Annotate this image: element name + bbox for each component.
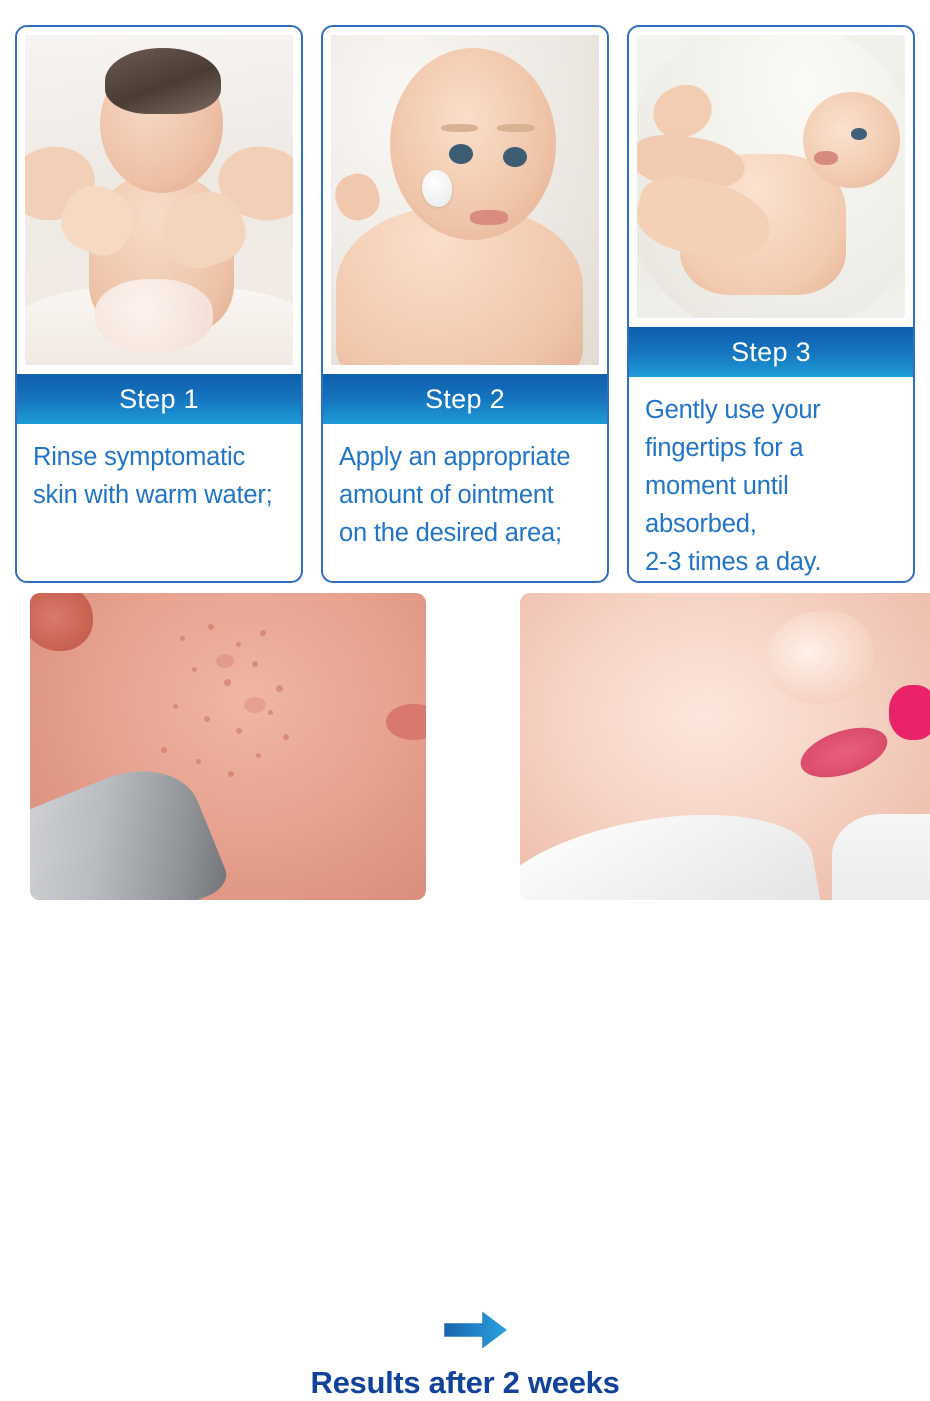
step-2-photo [331, 35, 599, 365]
before-photo [30, 593, 426, 900]
step-1-header: Step 1 [17, 374, 301, 424]
arrow-right-icon [441, 1306, 511, 1354]
step-card-3[interactable]: Step 3 Gently use your fingertips for a … [627, 25, 915, 583]
results-row: Results after 2 weeks [0, 588, 930, 940]
step-1-text: Rinse symptomatic skin with warm water; [17, 424, 301, 581]
step-3-text: Gently use your fingertips for a moment … [629, 377, 913, 581]
step-3-header: Step 3 [629, 327, 913, 377]
steps-row: Step 1 Rinse symptomatic skin with warm … [0, 0, 930, 588]
step-3-photo [637, 35, 905, 318]
step-1-photo [25, 35, 293, 365]
step-2-header: Step 2 [323, 374, 607, 424]
step-2-text: Apply an appropriate amount of ointment … [323, 424, 607, 581]
step-card-2[interactable]: Step 2 Apply an appropriate amount of oi… [321, 25, 609, 583]
step-card-1[interactable]: Step 1 Rinse symptomatic skin with warm … [15, 25, 303, 583]
after-photo [520, 593, 930, 900]
results-caption: Results after 2 weeks [0, 1365, 930, 1401]
